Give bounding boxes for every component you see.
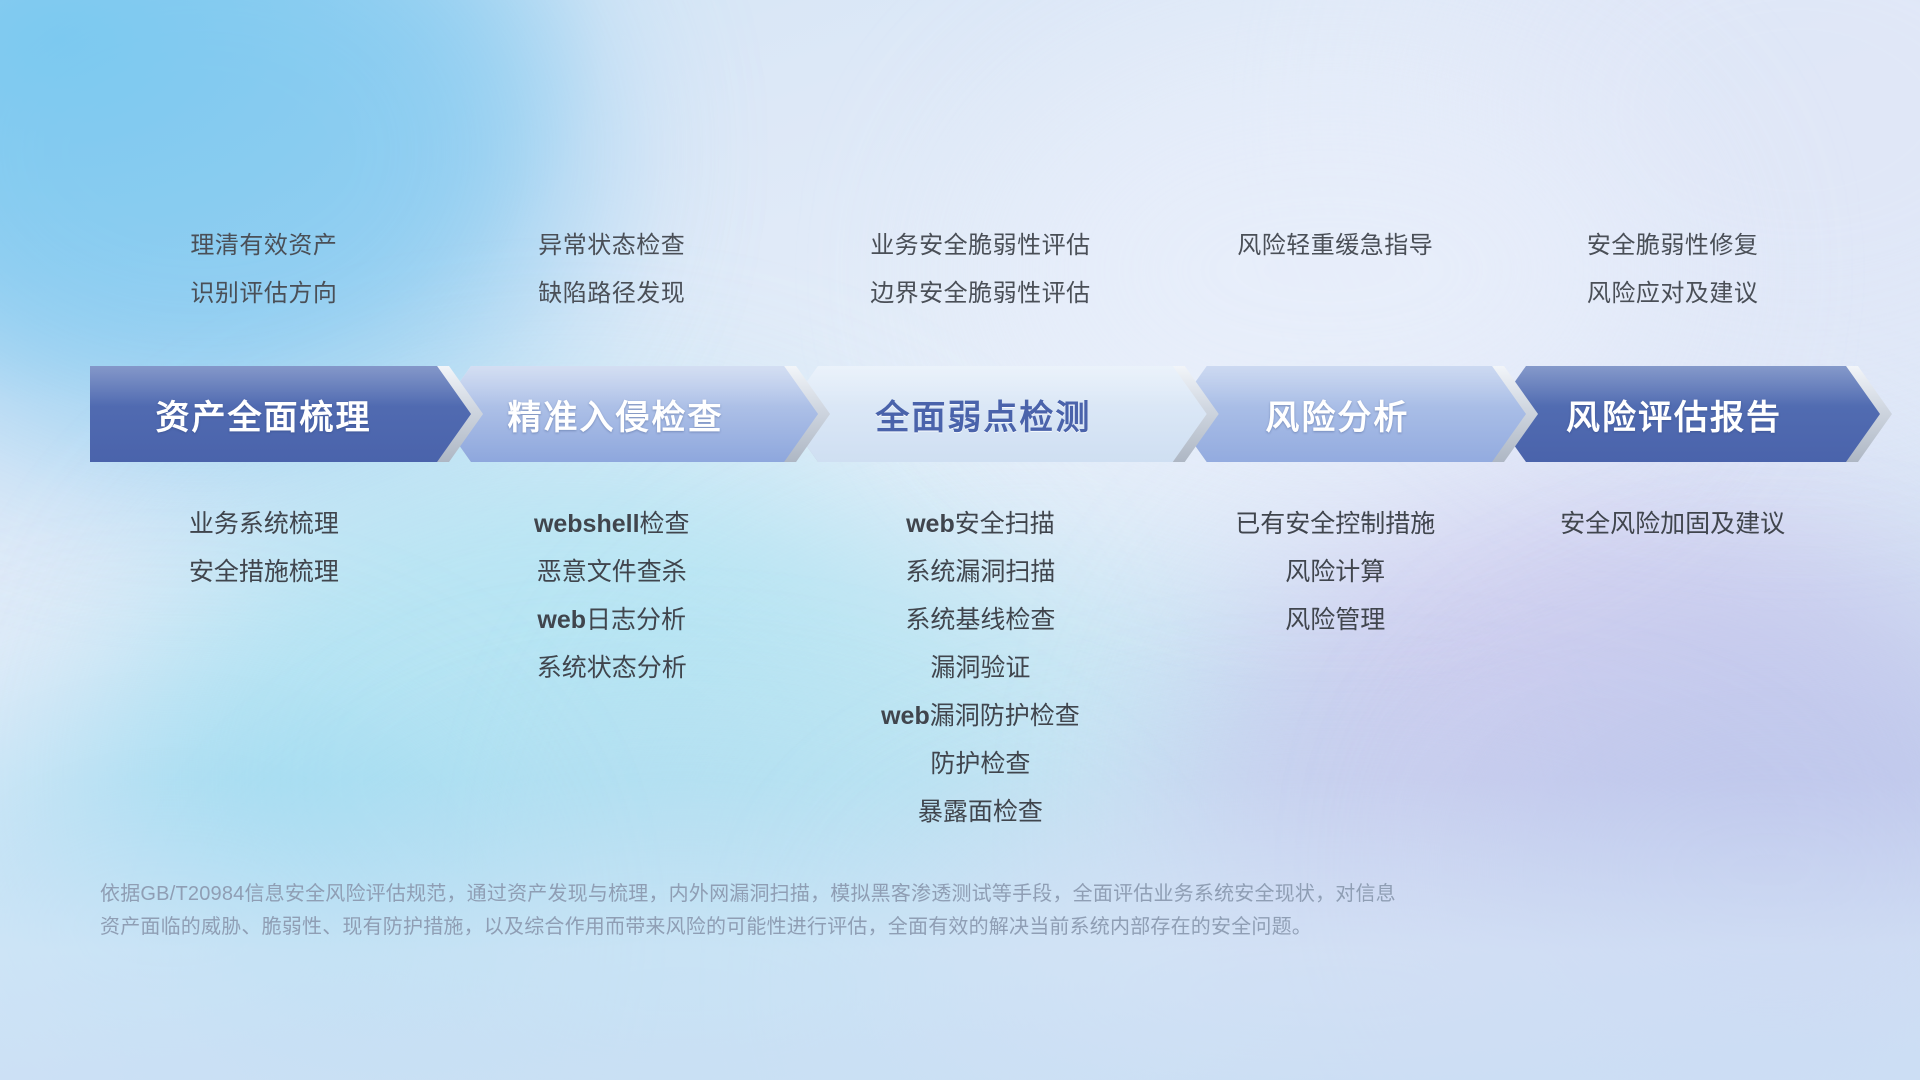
- detail-item: web日志分析: [438, 596, 786, 644]
- top-caption-line: 理清有效资产: [90, 222, 438, 270]
- top-caption-col-intrusion-check: 异常状态检查缺陷路径发现: [438, 222, 786, 318]
- detail-item: web安全扫描: [786, 500, 1176, 548]
- top-caption-line: 安全脆弱性修复: [1495, 222, 1850, 270]
- process-arrow-band: 资产全面梳理精准入侵检查全面弱点检测风险分析风险评估报告: [90, 366, 1846, 462]
- detail-col-asset-inventory: 业务系统梳理安全措施梳理: [90, 500, 438, 836]
- stage-title: 资产全面梳理: [156, 390, 372, 439]
- detail-item: 暴露面检查: [786, 788, 1176, 836]
- detail-col-risk-analysis: 已有安全控制措施风险计算风险管理: [1175, 500, 1495, 836]
- detail-item: 恶意文件查杀: [438, 548, 786, 596]
- latin-token: web: [881, 702, 930, 730]
- detail-item: 安全风险加固及建议: [1495, 500, 1850, 548]
- stage-title: 风险分析: [1265, 390, 1409, 439]
- top-caption-line: 风险轻重缓急指导: [1175, 222, 1495, 270]
- latin-token: web: [906, 510, 955, 538]
- top-caption-line: 缺陷路径发现: [438, 270, 786, 318]
- process-stage-weakness-detection[interactable]: 全面弱点检测: [784, 366, 1219, 462]
- process-stage-intrusion-check[interactable]: 精准入侵检查: [437, 366, 830, 462]
- top-caption-line: 业务安全脆弱性评估: [786, 222, 1176, 270]
- top-caption-line: 边界安全脆弱性评估: [786, 270, 1176, 318]
- detail-item: 安全措施梳理: [90, 548, 438, 596]
- top-caption-line: 风险应对及建议: [1495, 270, 1850, 318]
- detail-item: 漏洞验证: [786, 644, 1176, 692]
- footer-line-1: 依据GB/T20984信息安全风险评估规范，通过资产发现与梳理，内外网漏洞扫描，…: [100, 878, 1800, 911]
- detail-item: web漏洞防护检查: [786, 692, 1176, 740]
- detail-col-intrusion-check: webshell检查恶意文件查杀web日志分析系统状态分析: [438, 500, 786, 836]
- latin-token: webshell: [534, 510, 640, 538]
- detail-item: 系统状态分析: [438, 644, 786, 692]
- process-stage-risk-analysis[interactable]: 风险分析: [1173, 366, 1538, 462]
- top-caption-col-asset-inventory: 理清有效资产识别评估方向: [90, 222, 438, 318]
- detail-col-assessment-report: 安全风险加固及建议: [1495, 500, 1850, 836]
- detail-item: 系统漏洞扫描: [786, 548, 1176, 596]
- bottom-details-row: 业务系统梳理安全措施梳理webshell检查恶意文件查杀web日志分析系统状态分…: [90, 500, 1850, 836]
- detail-item: 风险计算: [1175, 548, 1495, 596]
- detail-item: 系统基线检查: [786, 596, 1176, 644]
- detail-item: 风险管理: [1175, 596, 1495, 644]
- top-caption-col-assessment-report: 安全脆弱性修复风险应对及建议: [1495, 222, 1850, 318]
- top-caption-line: 异常状态检查: [438, 222, 786, 270]
- infographic-root: 理清有效资产识别评估方向异常状态检查缺陷路径发现业务安全脆弱性评估边界安全脆弱性…: [0, 0, 1920, 1080]
- process-stage-asset-inventory[interactable]: 资产全面梳理: [90, 366, 483, 462]
- top-captions-row: 理清有效资产识别评估方向异常状态检查缺陷路径发现业务安全脆弱性评估边界安全脆弱性…: [90, 222, 1850, 318]
- footer-note: 依据GB/T20984信息安全风险评估规范，通过资产发现与梳理，内外网漏洞扫描，…: [100, 878, 1800, 944]
- stage-title: 全面弱点检测: [875, 390, 1091, 439]
- process-stage-assessment-report[interactable]: 风险评估报告: [1492, 366, 1892, 462]
- stage-title: 精准入侵检查: [508, 390, 724, 439]
- detail-item: 防护检查: [786, 740, 1176, 788]
- detail-item: 已有安全控制措施: [1175, 500, 1495, 548]
- footer-line-2: 资产面临的威胁、脆弱性、现有防护措施，以及综合作用而带来风险的可能性进行评估，全…: [100, 911, 1800, 944]
- top-caption-col-weakness-detection: 业务安全脆弱性评估边界安全脆弱性评估: [786, 222, 1176, 318]
- detail-col-weakness-detection: web安全扫描系统漏洞扫描系统基线检查漏洞验证web漏洞防护检查防护检查暴露面检…: [786, 500, 1176, 836]
- top-caption-col-risk-analysis: 风险轻重缓急指导: [1175, 222, 1495, 318]
- latin-token: web: [537, 606, 586, 634]
- top-caption-line: 识别评估方向: [90, 270, 438, 318]
- detail-item: webshell检查: [438, 500, 786, 548]
- stage-title: 风险评估报告: [1566, 390, 1782, 439]
- detail-item: 业务系统梳理: [90, 500, 438, 548]
